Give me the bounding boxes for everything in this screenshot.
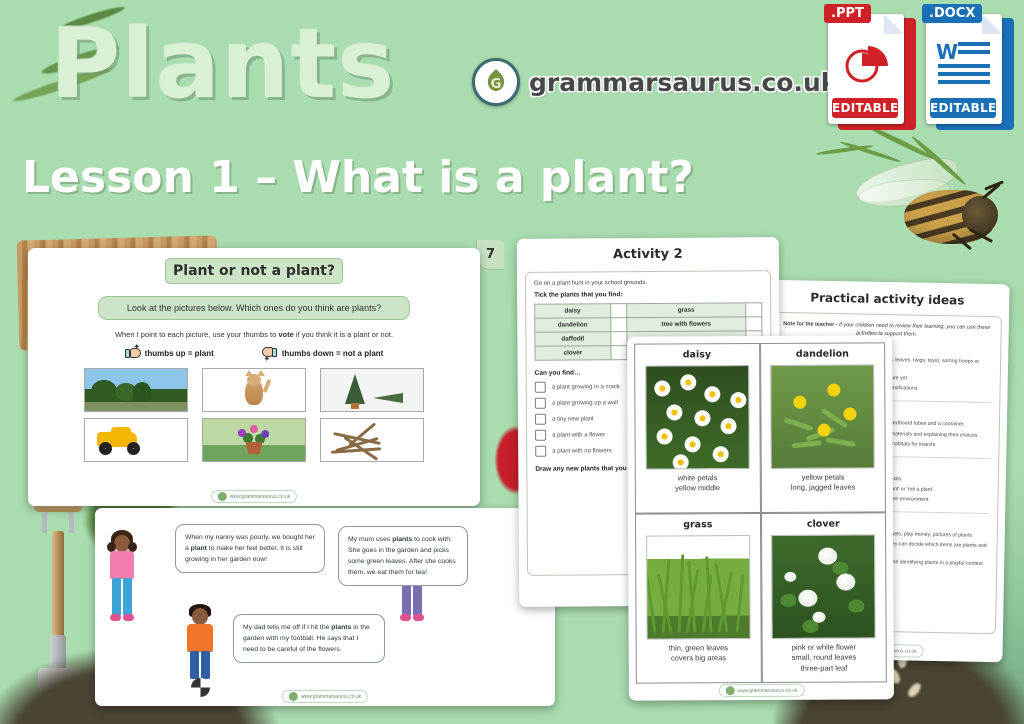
checkbox[interactable] bbox=[535, 446, 546, 457]
table-cell-checkbox[interactable] bbox=[611, 318, 627, 332]
vote-keyword: vote bbox=[278, 330, 293, 339]
checkbox[interactable] bbox=[535, 382, 546, 393]
checkbox[interactable] bbox=[535, 414, 546, 425]
plant-name: clover bbox=[807, 519, 840, 530]
activity-tick-label: Tick the plants that you find: bbox=[534, 290, 762, 299]
practical-note-prefix: Note for the teacher - bbox=[783, 321, 839, 328]
ppt-editable-label: EDITABLE bbox=[832, 98, 898, 118]
page-number-badge: 7 bbox=[476, 240, 504, 270]
plant-card-clover[interactable]: clover pink or white flower small, round… bbox=[760, 512, 886, 683]
plant-card-grass[interactable]: grass thin, green leaves covers big area… bbox=[635, 513, 761, 684]
checkbox[interactable] bbox=[535, 398, 546, 409]
practical-title: Practical activity ideas bbox=[765, 290, 1009, 309]
bubble-mum[interactable]: My mum uses plants to cook with. She goe… bbox=[338, 526, 468, 586]
table-cell-checkbox[interactable] bbox=[610, 304, 626, 318]
docx-tag: .DOCX bbox=[922, 4, 982, 23]
watermark-logo-icon bbox=[289, 692, 298, 701]
spade-photo bbox=[20, 505, 94, 720]
thumbs-down-legend: ✦ thumbs down = not a plant bbox=[262, 346, 384, 360]
toy-truck-photo[interactable] bbox=[84, 418, 188, 462]
watermark-logo-icon bbox=[218, 492, 227, 501]
plant-desc-line: covers big areas bbox=[671, 654, 726, 665]
slide-instruction: Look at the pictures below. Which ones d… bbox=[98, 296, 410, 320]
bubble-nanny[interactable]: When my nanny was poorly, we bought her … bbox=[175, 524, 325, 573]
docx-badge: W EDITABLE .DOCX bbox=[926, 8, 1014, 130]
poster-canvas: Plants Lesson 1 – What is a plant? G gra… bbox=[0, 0, 1024, 724]
bubble-nanny-keyword: plant bbox=[191, 545, 207, 552]
table-cell-checkbox[interactable] bbox=[611, 346, 627, 360]
plant-desc-line: yellow middle bbox=[675, 484, 720, 495]
checkbox-label: a plant with no flowers bbox=[552, 448, 611, 454]
thumbs-up-label: thumbs up = plant bbox=[145, 349, 214, 358]
child-avatar-girl bbox=[105, 530, 139, 640]
vote-instruction: When I point to each picture, use your t… bbox=[28, 330, 480, 339]
table-cell-checkbox[interactable] bbox=[746, 317, 762, 331]
ppt-tag: .PPT bbox=[824, 4, 871, 23]
pine-needle-icon bbox=[910, 135, 967, 187]
checkbox-label: a plant growing in a crack bbox=[552, 384, 620, 390]
table-cell-checkbox[interactable] bbox=[611, 332, 627, 346]
grass-photo bbox=[646, 535, 751, 640]
plant-desc-line: white petals bbox=[678, 473, 718, 484]
card-plant-identification[interactable]: daisy white petals yellow middle bbox=[627, 335, 894, 700]
plant-name: daisy bbox=[683, 349, 711, 360]
watermark: www.grammarsaurus.co.uk bbox=[718, 684, 804, 697]
thumbs-up-legend: ✦ thumbs up = plant bbox=[125, 346, 214, 360]
picture-grid bbox=[84, 368, 424, 462]
pie-chart-icon bbox=[842, 40, 888, 86]
plant-desc-line: three-part leaf bbox=[801, 663, 848, 674]
plant-desc-line: thin, green leaves bbox=[669, 643, 728, 654]
flower-pot-photo[interactable] bbox=[202, 418, 306, 462]
watermark: www.grammarsaurus.co.uk bbox=[211, 490, 297, 503]
watermark-text: www.grammarsaurus.co.uk bbox=[301, 694, 361, 700]
page-title: Plants bbox=[50, 16, 395, 112]
word-glyph-icon: W bbox=[936, 40, 958, 64]
plant-desc-line: long, jagged leaves bbox=[791, 483, 856, 494]
thumbs-down-label: thumbs down = not a plant bbox=[282, 349, 384, 358]
plant-card-grid: daisy white petals yellow middle bbox=[634, 342, 887, 683]
pine-needle-icon bbox=[816, 144, 874, 156]
svg-text:G: G bbox=[491, 77, 502, 92]
vote-text-post: if you think it is a plant or not. bbox=[294, 330, 393, 339]
watermark-text: www.grammarsaurus.co.uk bbox=[230, 494, 290, 500]
activity-lead: Go on a plant hunt in your school ground… bbox=[534, 279, 762, 287]
thumbs-down-icon: ✦ bbox=[262, 346, 278, 360]
table-cell-label: daisy bbox=[535, 304, 611, 319]
bubble-dad-text-1: My dad tells me off if I hit the bbox=[243, 624, 331, 631]
plant-name: dandelion bbox=[796, 349, 849, 360]
checkbox-label: a plant growing up a wall bbox=[552, 400, 618, 406]
watermark: www.grammarsaurus.co.uk bbox=[282, 690, 368, 703]
checkbox-label: a tiny new plant bbox=[552, 416, 594, 422]
file-format-badges: EDITABLE .PPT W EDITABLE .DOCX bbox=[828, 8, 1014, 130]
thumbs-up-icon: ✦ bbox=[125, 346, 141, 360]
table-cell-label: tree with flowers bbox=[627, 317, 746, 332]
slide-title: Plant or not a plant? bbox=[165, 258, 343, 284]
vote-text-pre: When I point to each picture, use your t… bbox=[115, 330, 278, 339]
watermark-logo-icon bbox=[725, 686, 734, 695]
brand-text: grammarsaurus.co.uk bbox=[529, 68, 837, 97]
pine-needle-icon bbox=[839, 140, 901, 164]
table-cell-label: grass bbox=[626, 303, 745, 318]
child-avatar-boy-orange bbox=[183, 604, 217, 704]
table-cell-checkbox[interactable] bbox=[746, 303, 762, 317]
clover-photo bbox=[771, 534, 876, 639]
checkbox-label: a plant with a flower bbox=[552, 432, 605, 438]
bubble-dad-keyword: plants bbox=[331, 624, 351, 631]
tree-photo[interactable] bbox=[84, 368, 188, 412]
lesson-subtitle: Lesson 1 – What is a plant? bbox=[22, 152, 694, 203]
daisy-photo bbox=[645, 365, 750, 470]
sticks-photo[interactable] bbox=[320, 418, 424, 462]
checkbox[interactable] bbox=[535, 430, 546, 441]
plant-desc-line: pink or white flower bbox=[792, 643, 856, 654]
brand-logo: G grammarsaurus.co.uk bbox=[472, 58, 837, 106]
docx-editable-label: EDITABLE bbox=[930, 98, 996, 118]
ppt-badge: EDITABLE .PPT bbox=[828, 8, 916, 130]
activity-title: Activity 2 bbox=[517, 246, 779, 263]
cat-photo[interactable] bbox=[202, 368, 306, 412]
plant-card-daisy[interactable]: daisy white petals yellow middle bbox=[634, 343, 760, 514]
watermark-text: www.grammarsaurus.co.uk bbox=[737, 687, 797, 693]
thumbs-legend: ✦ thumbs up = plant ✦ thumbs down = not … bbox=[28, 346, 480, 360]
table-cell-label: daffodil bbox=[535, 332, 611, 347]
plant-desc-line: small, round leaves bbox=[792, 653, 857, 664]
artificial-christmas-tree-photo[interactable] bbox=[320, 368, 424, 412]
bubble-mum-keyword: plants bbox=[392, 536, 412, 543]
dandelion-photo bbox=[770, 364, 875, 469]
plant-name: grass bbox=[683, 519, 712, 530]
table-cell-label: dandelion bbox=[535, 318, 611, 333]
plant-card-dandelion[interactable]: dandelion yellow petals long, jagged lea… bbox=[760, 342, 886, 513]
bubble-dad[interactable]: My dad tells me off if I hit the plants … bbox=[233, 614, 385, 663]
bubble-mum-text-1: My mum uses bbox=[348, 536, 392, 543]
grammarsaurus-badge-icon: G bbox=[472, 58, 520, 106]
slide-children-speech[interactable]: When my nanny was poorly, we bought her … bbox=[95, 508, 555, 706]
table-cell-label: clover bbox=[535, 346, 611, 361]
plant-desc-line: yellow petals bbox=[802, 473, 845, 484]
slide-plant-or-not-a-plant[interactable]: Plant or not a plant? Look at the pictur… bbox=[28, 248, 480, 506]
bee-photo bbox=[854, 160, 1004, 255]
